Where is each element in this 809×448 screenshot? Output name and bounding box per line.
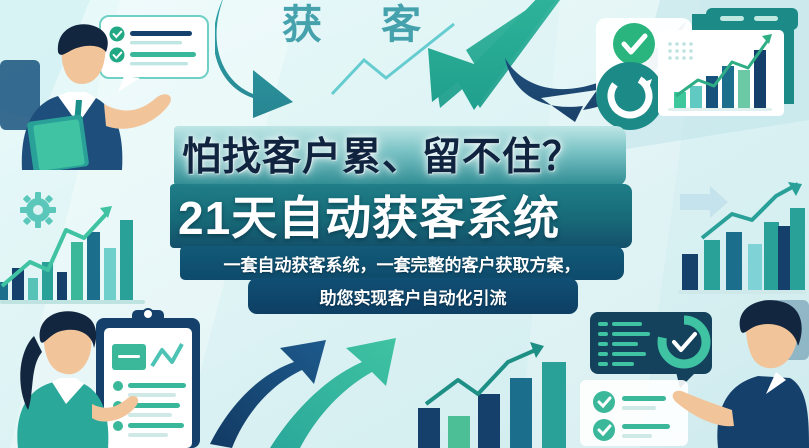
bottom-left-illustration [0,300,225,448]
check-circle-badge [613,23,655,65]
subtitle-line-1: 一套自动获客系统，一套完整的客户获取方案， [182,246,622,280]
dark-stats-panel [580,312,712,446]
left-mid-bar-chart [0,190,185,310]
bottom-mid-arrows [210,318,420,448]
headline-secondary: 21天自动获客系统 [178,182,638,248]
progress-donut [596,62,664,130]
promotional-banner: 获 客 [0,0,809,448]
headline-block: 怕找客户累、留不住？ 21天自动获客系统 一套自动获客系统，一套完整的客户获取方… [170,126,640,318]
clipboard-report [96,309,200,448]
checklist-speech-bubble [100,16,208,92]
headline-primary: 怕找客户累、留不住？ [182,124,632,184]
subtitle-line-2: 助您实现客户自动化引流 [248,278,578,314]
teal-curved-arrow [215,0,345,119]
gear-icon [20,192,56,228]
right-mid-bar-chart [660,182,809,302]
analytics-dashboard-card [588,4,806,144]
bottom-mid-bar-chart [400,336,580,448]
